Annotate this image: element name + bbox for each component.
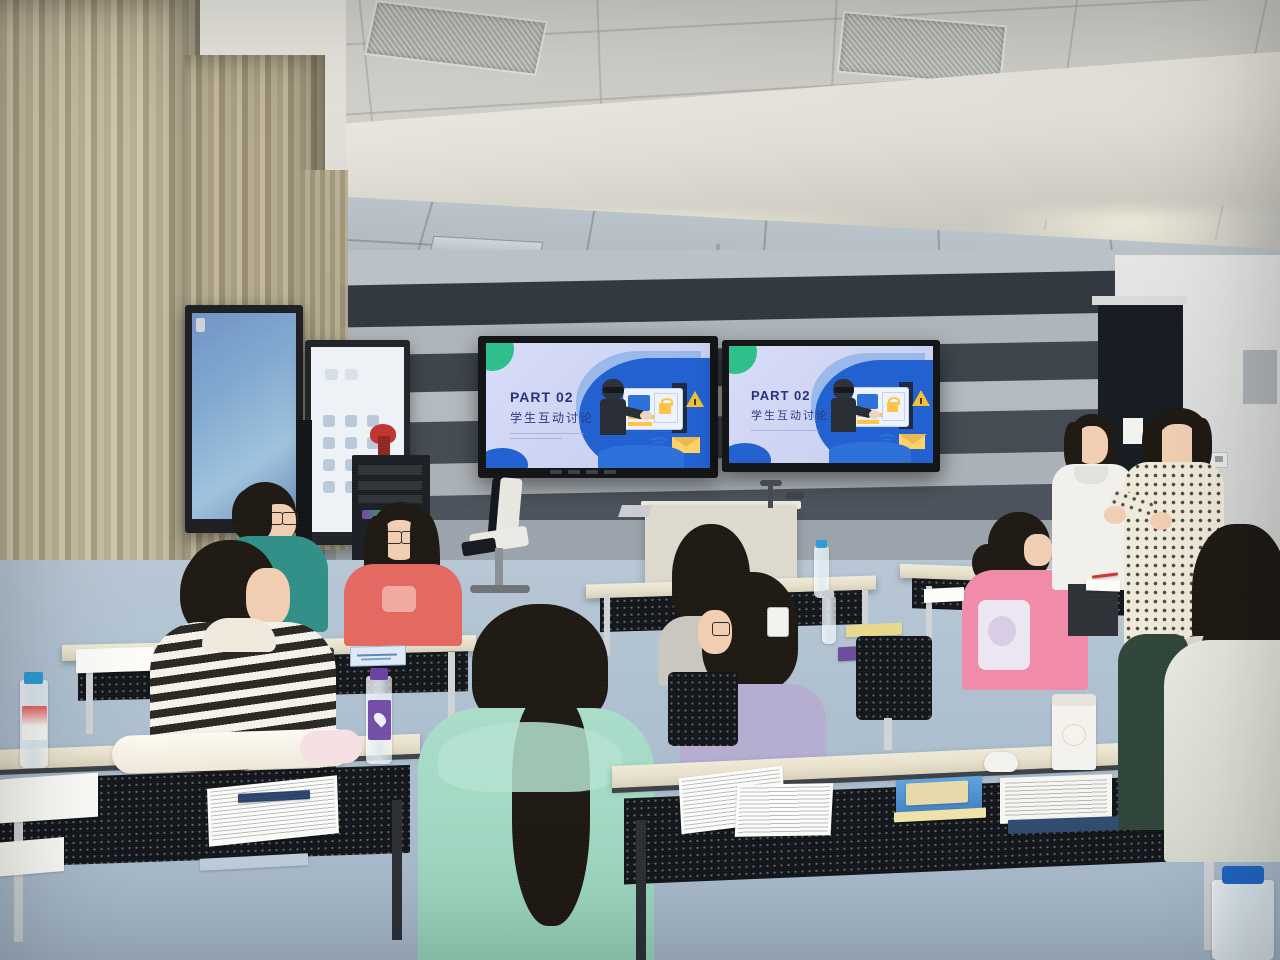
computer-mouse[interactable] [984,752,1018,772]
classroom-photo: PART 02 学生互动讨论 [0,0,1280,960]
bottle-label [368,700,391,740]
warning-mark [694,399,696,405]
hacker-mask-icon [603,387,624,393]
display-button[interactable] [568,470,580,474]
hair-side [1064,422,1082,470]
lock-body-icon [659,403,671,414]
microphone-stem [768,484,773,508]
board-camera-icon [196,318,205,332]
envelope-flap-icon [672,437,700,447]
slide-right: PART 02 学生互动讨论 [729,346,933,463]
name-card[interactable] [350,645,406,666]
slide-left: PART 02 学生互动讨论 [486,343,710,468]
rolled-poster-end [299,729,362,765]
paper-lines [738,786,830,834]
wall-switch-rocker[interactable] [1215,456,1223,462]
chair-mesh-back[interactable] [856,636,932,720]
office-chair-base [470,585,530,593]
hand [1104,506,1126,524]
slide-subtitle: 学生互动讨论 [510,409,594,426]
face [1024,534,1052,566]
display-button[interactable] [550,470,562,474]
microphone-icon[interactable] [786,492,804,499]
bottle-label [22,706,47,740]
hacker-hand [640,411,652,420]
office-chair-post [495,548,503,590]
wall-notice [1123,418,1143,444]
hacker-illustration [829,366,931,460]
paper-lines [1005,779,1107,819]
handout-paper[interactable] [0,837,64,877]
collar [202,618,276,652]
laptop-on-podium[interactable] [618,505,652,517]
hacker-mask-icon [834,387,854,393]
cup-graphic [1062,724,1086,746]
right-main-display[interactable]: PART 02 学生互动讨论 [722,340,940,472]
desk-leg [392,800,402,940]
hood [438,722,622,792]
handout-paper[interactable] [735,783,834,837]
monitor-bar [857,420,879,424]
trousers [1068,584,1118,636]
chair-mesh-back[interactable] [668,672,738,746]
slide-subtitle: 学生互动讨论 [751,407,829,423]
hair-clip-icon [768,608,788,636]
handout-paper[interactable] [1086,579,1120,591]
lock-body-icon [887,402,898,412]
bottle-cap [824,590,834,598]
handout-paper[interactable] [0,773,98,824]
wall-air-vent [1243,350,1277,404]
door-header-trim [1092,296,1187,305]
desk-leg [14,812,23,942]
bottle-cap [24,672,43,684]
bottle-cap [1222,866,1264,884]
water-bottle[interactable] [1212,880,1274,960]
torso [1164,640,1280,862]
hand [1150,512,1172,530]
desk-leg [636,820,646,960]
jacket-graphic-detail [988,616,1016,646]
bottle-cap [370,668,388,680]
paper-lines [210,779,336,844]
left-main-display[interactable]: PART 02 学生互动讨论 [478,336,718,478]
handout-paper[interactable] [76,647,154,674]
slide-rule [751,430,819,431]
collar [1074,466,1108,484]
display-button[interactable] [586,470,598,474]
hacker-hand [869,410,880,419]
slide-part-label: PART 02 [751,388,811,403]
textbook-cover-art [906,780,968,805]
hair-front [232,488,272,540]
handout-paper[interactable] [924,587,964,603]
water-bottle[interactable] [822,596,836,644]
warning-mark [920,398,922,404]
hacker-illustration [598,365,706,465]
slide-part-label: PART 02 [510,389,574,405]
glasses-icon [282,512,298,525]
torso-pattern [382,586,416,612]
chair-base [884,718,892,750]
display-button[interactable] [604,470,616,474]
cup-lid [1052,694,1096,706]
slide-rule [510,438,562,439]
bottle-cap [816,540,827,548]
monitor-bar [628,422,652,426]
slide-rule [510,433,584,434]
envelope-flap-icon [899,434,927,444]
smart-board-stand [296,420,312,555]
glasses-icon [712,622,730,636]
